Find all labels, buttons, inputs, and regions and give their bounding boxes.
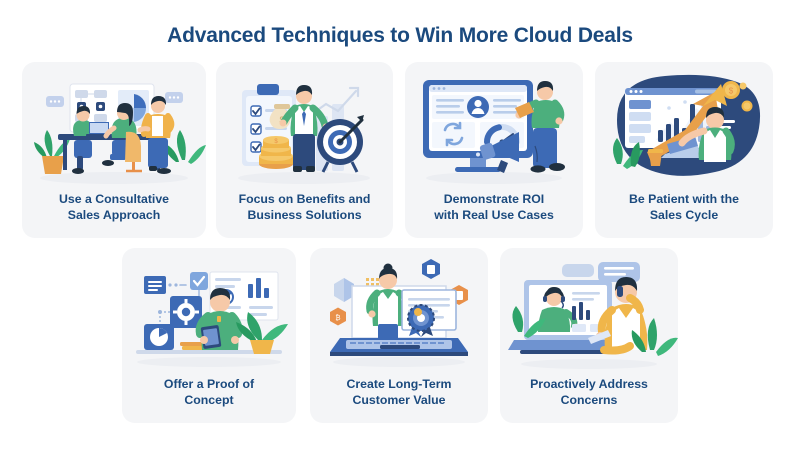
illustration-process-flow-tablet xyxy=(122,254,296,376)
card-label: Create Long-TermCustomer Value xyxy=(316,376,482,409)
card-offer-a-proof-of-concept[interactable]: Offer a Proof ofConcept xyxy=(122,248,296,423)
card-label: Focus on Benefits andBusiness Solutions xyxy=(222,191,387,224)
illustration-video-call-support xyxy=(500,254,678,376)
card-label: Demonstrate ROIwith Real Use Cases xyxy=(411,191,577,224)
infographic-root: Advanced Techniques to Win More Cloud De… xyxy=(0,0,800,450)
svg-text:$: $ xyxy=(729,87,734,96)
svg-text:₿: ₿ xyxy=(335,314,340,322)
page-title: Advanced Techniques to Win More Cloud De… xyxy=(0,24,800,48)
card-demonstrate-roi-with-real-use-cases[interactable]: Demonstrate ROIwith Real Use Cases xyxy=(405,62,583,238)
card-focus-on-benefits-and-business-solutions[interactable]: $ $ xyxy=(216,62,393,238)
illustration-analytics-growth-arrow: $ xyxy=(595,68,773,190)
card-create-long-term-customer-value[interactable]: ₿ xyxy=(310,248,488,423)
card-proactively-address-concerns[interactable]: Proactively AddressConcerns xyxy=(500,248,678,423)
card-label: Proactively AddressConcerns xyxy=(506,376,672,409)
card-be-patient-with-the-sales-cycle[interactable]: $ xyxy=(595,62,773,238)
card-use-a-consultative-sales-approach[interactable]: Use a ConsultativeSales Approach xyxy=(22,62,206,238)
illustration-team-meeting-whiteboard xyxy=(22,68,206,190)
illustration-laptop-certificate-award: ₿ xyxy=(310,254,488,376)
illustration-checklist-money-target: $ $ xyxy=(216,68,393,190)
illustration-monitor-dashboard-megaphone xyxy=(405,68,583,190)
card-label: Use a ConsultativeSales Approach xyxy=(28,191,200,224)
card-label: Be Patient with theSales Cycle xyxy=(601,191,767,224)
card-label: Offer a Proof ofConcept xyxy=(128,376,290,409)
